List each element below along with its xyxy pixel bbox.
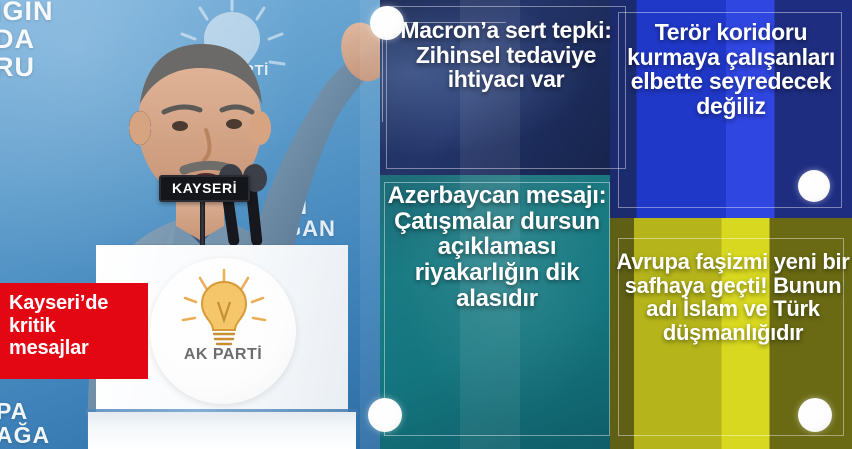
nameplate-kayseri: KAYSERİ [159,175,250,202]
headline-azerbaycan: Azerbaycan mesajı: Çatışmalar dursun açı… [386,183,608,311]
headline-teror: Terör koridoru kurmaya çalışanları elbet… [612,20,850,118]
band-1 [360,0,380,449]
podium-base [88,412,356,449]
collage-root: IGIN DA RU IN ĞAN PA AĞA [0,0,852,449]
headline-collage: Macron’a sert tepki: Zihinsel tedaviye i… [360,0,852,449]
red-banner-line2: kritik [9,315,138,338]
speech-photo: IGIN DA RU IN ĞAN PA AĞA [0,0,380,449]
red-banner-line3: mesajlar [9,337,138,360]
podium-logo-label: AK PARTİ [150,346,296,364]
headline-avrupa: Avrupa faşizmi yeni bir safhaya geçti! B… [614,250,852,344]
decor-dot-bottom-right [798,398,832,432]
decor-dot-bottom-left [368,398,402,432]
red-banner: Kayseri’de kritik mesajlar [0,283,148,379]
headline-macron: Macron’a sert tepki: Zihinsel tedaviye i… [388,18,624,92]
decor-dot-top-left [370,6,404,40]
decor-dot-mid-right [798,170,830,202]
red-banner-line1: Kayseri’de [9,292,138,315]
